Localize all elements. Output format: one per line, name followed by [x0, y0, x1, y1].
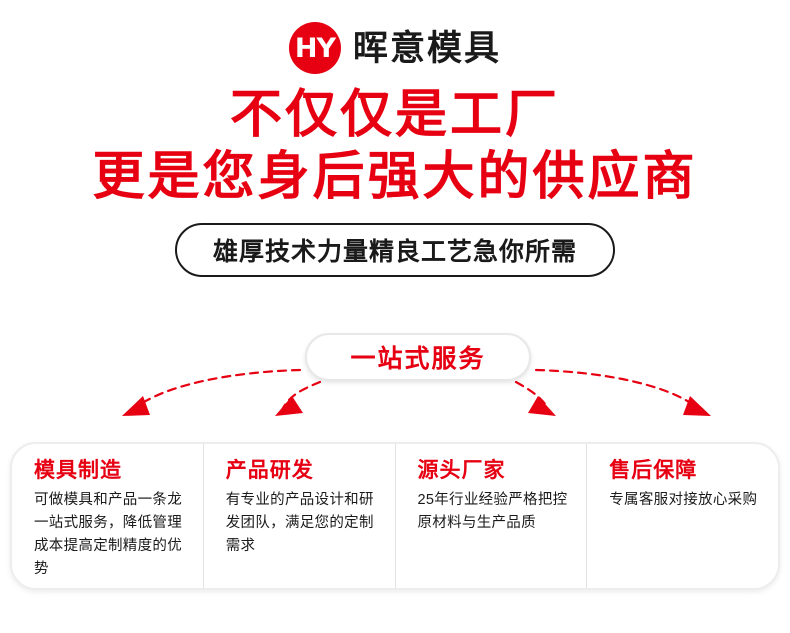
headline-line-1: 不仅仅是工厂 — [0, 84, 790, 146]
feature-card-title: 模具制造 — [34, 460, 189, 481]
headline-line-2: 更是您身后强大的供应商 — [0, 146, 790, 208]
feature-card: 源头厂家 25年行业经验严格把控原材料与生产品质 — [395, 444, 587, 588]
page-title: 不仅仅是工厂 更是您身后强大的供应商 — [0, 84, 790, 208]
brand-name: 晖意模具 — [353, 31, 501, 66]
feature-card-desc: 25年行业经验严格把控原材料与生产品质 — [418, 489, 573, 535]
feature-card-title: 源头厂家 — [418, 460, 573, 481]
logo-circle-icon: HY — [289, 22, 341, 74]
feature-card-title: 售后保障 — [609, 460, 764, 481]
subtitle-text: 雄厚技术力量精良工艺急你所需 — [213, 232, 577, 268]
feature-card: 模具制造 可做模具和产品一条龙一站式服务，降低管理成本提高定制精度的优势 — [12, 444, 203, 588]
one-stop-service-label: 一站式服务 — [350, 339, 485, 375]
feature-card-desc: 可做模具和产品一条龙一站式服务，降低管理成本提高定制精度的优势 — [34, 489, 189, 581]
logo-monogram: HY — [295, 35, 335, 62]
subtitle-banner: 雄厚技术力量精良工艺急你所需 — [175, 223, 615, 277]
feature-card: 售后保障 专属客服对接放心采购 — [586, 444, 778, 588]
feature-card-title: 产品研发 — [226, 460, 381, 481]
promo-page: HY 晖意模具 不仅仅是工厂 更是您身后强大的供应商 雄厚技术力量精良工艺急你所… — [0, 0, 790, 633]
feature-card-desc: 有专业的产品设计和研发团队，满足您的定制需求 — [226, 489, 381, 558]
brand-logo-row: HY 晖意模具 — [0, 22, 790, 74]
feature-card: 产品研发 有专业的产品设计和研发团队，满足您的定制需求 — [203, 444, 395, 588]
feature-card-group: 模具制造 可做模具和产品一条龙一站式服务，降低管理成本提高定制精度的优势 产品研… — [10, 442, 780, 590]
one-stop-service-badge: 一站式服务 — [305, 333, 531, 381]
feature-card-desc: 专属客服对接放心采购 — [609, 489, 764, 512]
